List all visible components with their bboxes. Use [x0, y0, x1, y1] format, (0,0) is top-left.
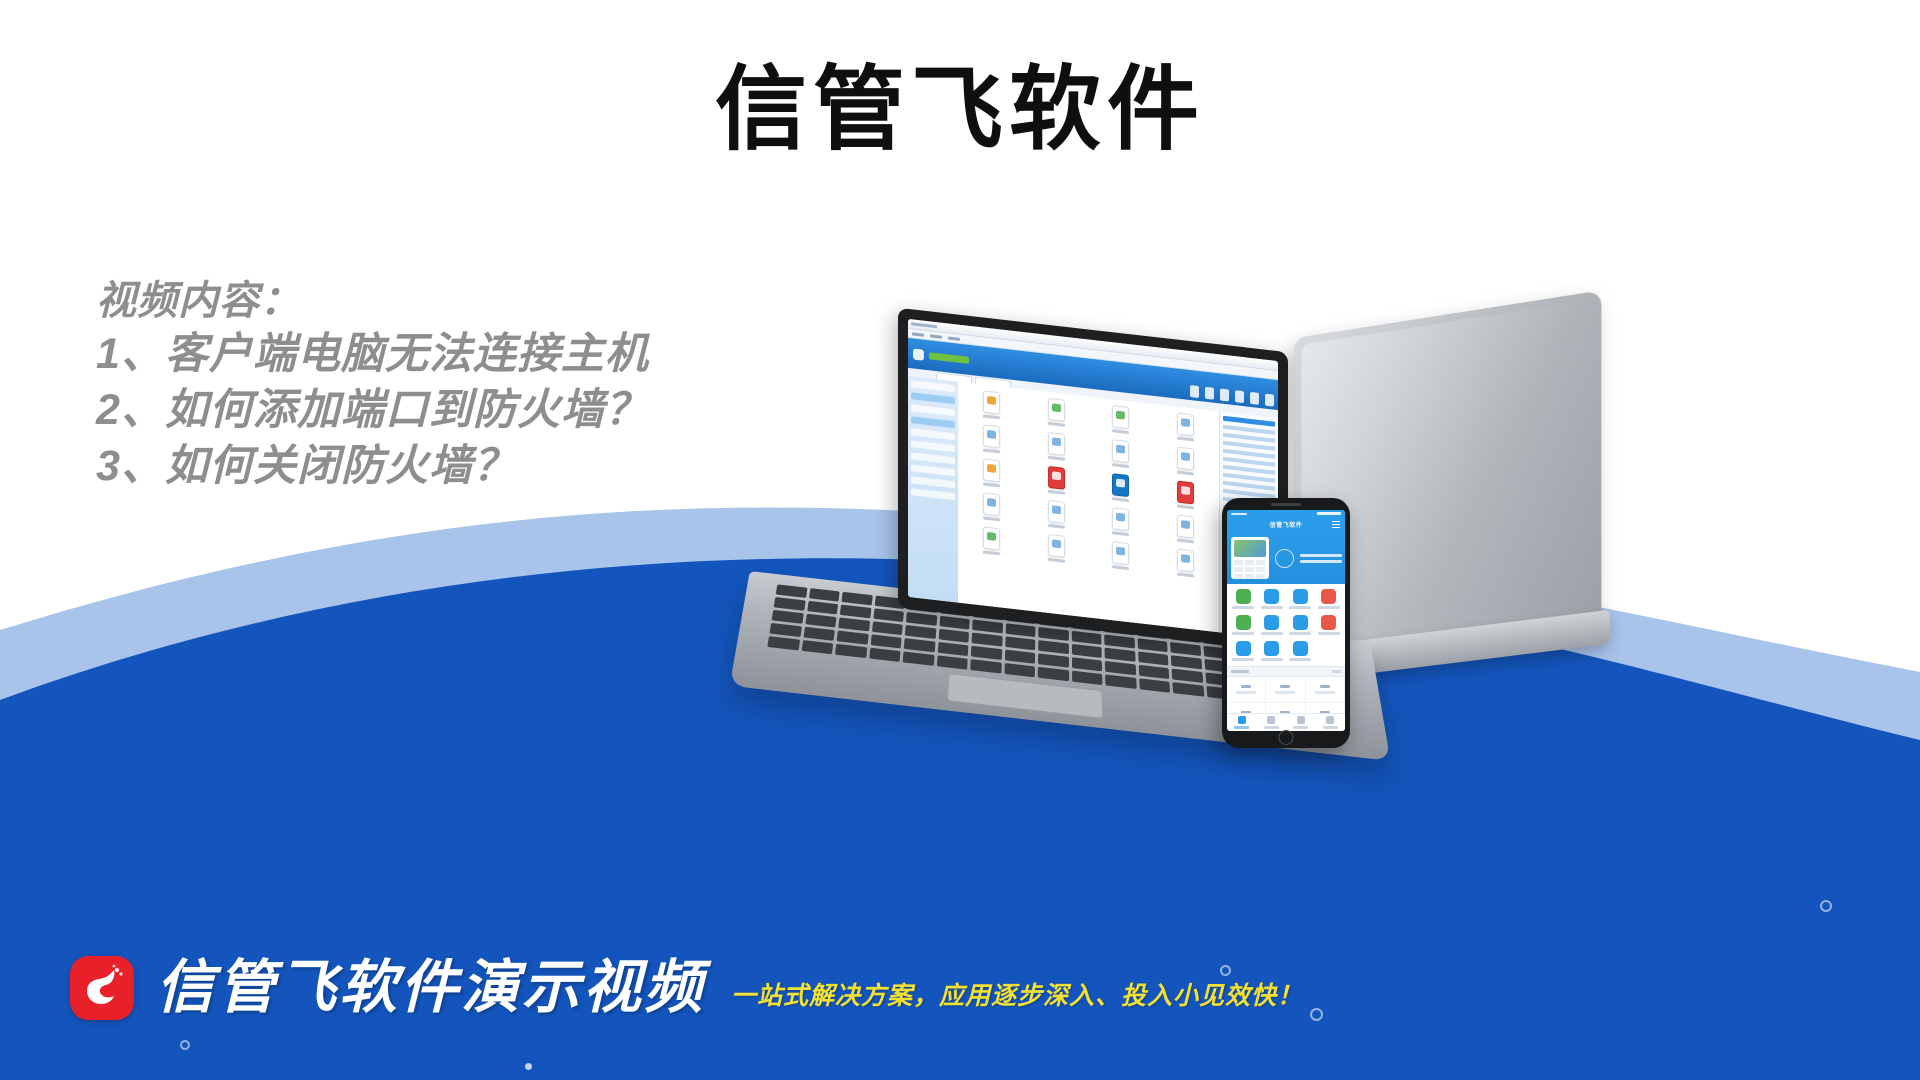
app-icon — [1027, 497, 1087, 531]
app-icon — [1156, 546, 1216, 580]
app-icon — [1156, 444, 1216, 478]
footer-branding: 信管飞软件演示视频 一站式解决方案，应用逐步深入、投入小见效快！ — [70, 956, 1303, 1020]
content-item-2-text: 如何添加端口到防火墙？ — [165, 386, 649, 434]
decor-dot — [1820, 900, 1832, 912]
phone-stat-cell — [1227, 677, 1266, 703]
content-item-1: 1、客户端电脑无法连接主机 — [96, 327, 856, 383]
phone-home-button[interactable] — [1279, 730, 1294, 745]
phone-nav-item[interactable] — [1227, 716, 1257, 729]
phone-status-bar — [1227, 510, 1345, 517]
content-item-3-text: 如何关闭防火墙？ — [165, 442, 517, 490]
hamburger-menu-icon[interactable] — [1332, 521, 1340, 528]
decor-dot — [180, 1040, 190, 1050]
phone-grid-icon — [1316, 615, 1343, 635]
app-logo-icon — [913, 348, 924, 360]
content-item-3-number: 3、 — [96, 439, 165, 495]
phone-stat-cell — [1266, 677, 1305, 703]
app-icon — [1027, 531, 1087, 565]
phone-app-header: 信管飞软件 — [1227, 517, 1345, 532]
phone-grid-icon — [1287, 615, 1314, 635]
app-icon — [1027, 463, 1087, 497]
phone-nav-item[interactable] — [1257, 716, 1287, 729]
phone-app-title: 信管飞软件 — [1270, 520, 1303, 529]
app-icon — [1091, 505, 1151, 539]
app-icon — [962, 490, 1022, 524]
phone-grid-icon — [1230, 589, 1257, 609]
app-icon — [962, 388, 1022, 422]
phone-grid-icon — [1259, 641, 1286, 661]
phone-grid-icon — [1287, 641, 1314, 661]
phone-hero-banner — [1227, 532, 1345, 584]
app-icon — [1091, 539, 1151, 573]
phone-mockup: 信管飞软件 — [1222, 498, 1350, 748]
decor-dot — [525, 1063, 532, 1070]
app-icon — [962, 524, 1022, 558]
dove-logo-icon — [70, 956, 134, 1020]
decor-dot — [1310, 1008, 1323, 1021]
phone-nav-item[interactable] — [1316, 716, 1346, 729]
phone-hero-badge-icon — [1275, 549, 1294, 568]
phone-section-header — [1227, 666, 1345, 677]
phone-stat-cell — [1306, 677, 1345, 703]
page-title: 信管飞软件 — [0, 62, 1920, 159]
brand-name: 信管飞软件演示视频 — [156, 959, 705, 1017]
content-item-3: 3、如何关闭防火墙？ — [96, 439, 856, 495]
content-item-1-text: 客户端电脑无法连接主机 — [165, 330, 649, 378]
app-icon — [1027, 395, 1087, 429]
phone-grid-icon — [1230, 615, 1257, 635]
phone-grid-icon — [1259, 589, 1286, 609]
phone-grid-icon — [1287, 589, 1314, 609]
phone-grid-icon — [1230, 641, 1257, 661]
phone-grid-icon — [1316, 589, 1343, 609]
app-icon — [962, 456, 1022, 490]
phone-hero-card — [1231, 537, 1269, 579]
app-icon — [962, 422, 1022, 456]
content-heading: 视频内容： — [96, 275, 856, 327]
app-icon — [1091, 403, 1151, 437]
phone-hero-text — [1300, 554, 1342, 563]
app-icon — [1091, 437, 1151, 471]
app-icon — [1091, 471, 1151, 505]
phone-feature-grid — [1227, 584, 1345, 666]
app-icon — [1156, 478, 1216, 512]
brand-tagline: 一站式解决方案，应用逐步深入、投入小见效快！ — [731, 976, 1303, 1020]
app-status-pill — [929, 352, 969, 364]
video-content-list: 视频内容： 1、客户端电脑无法连接主机 2、如何添加端口到防火墙？ 3、如何关闭… — [96, 275, 856, 495]
content-item-2: 2、如何添加端口到防火墙？ — [96, 383, 856, 439]
app-icon — [1156, 512, 1216, 546]
phone-screen: 信管飞软件 — [1227, 510, 1345, 731]
content-item-2-number: 2、 — [96, 383, 165, 439]
app-icon — [1156, 410, 1216, 444]
phone-bottom-nav — [1227, 713, 1345, 731]
device-mockups: 信管飞软件 — [880, 330, 1700, 950]
phone-nav-item[interactable] — [1286, 716, 1316, 729]
app-icon — [1027, 429, 1087, 463]
app-icon-grid — [958, 382, 1219, 633]
slide-canvas: 信管飞软件 视频内容： 1、客户端电脑无法连接主机 2、如何添加端口到防火墙？ … — [0, 0, 1920, 1080]
phone-grid-icon — [1259, 615, 1286, 635]
content-item-1-number: 1、 — [96, 327, 165, 383]
app-sidebar — [908, 376, 958, 603]
